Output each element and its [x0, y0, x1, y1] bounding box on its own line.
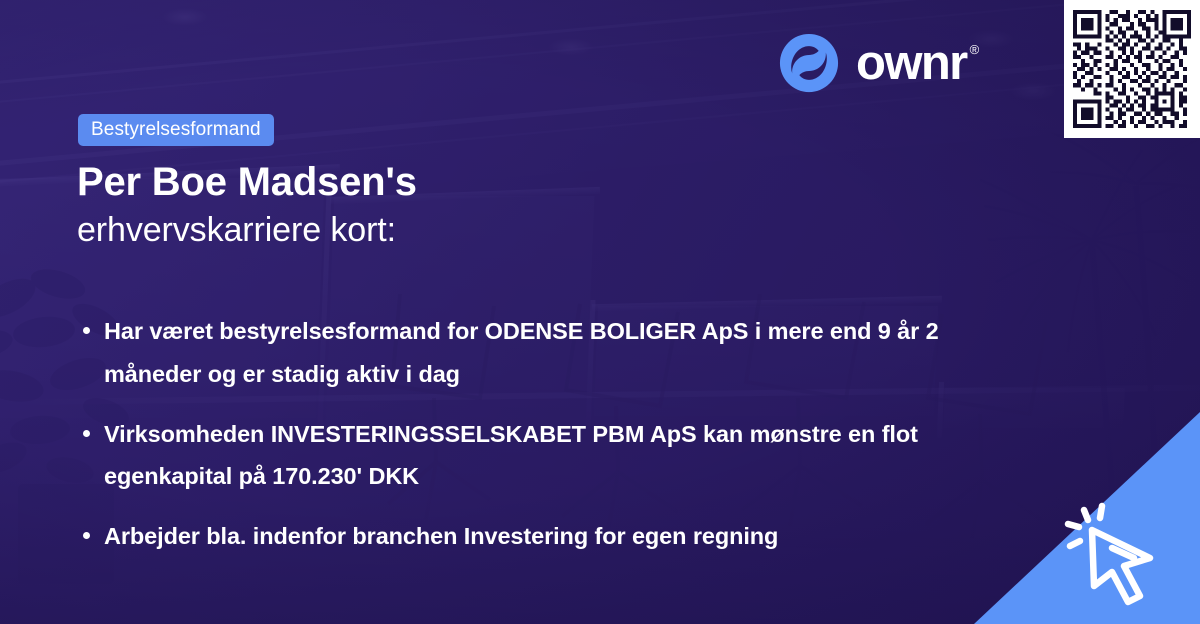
- qr-code-panel[interactable]: [1064, 0, 1200, 138]
- headline-line-2: erhvervskarriere kort:: [77, 209, 417, 252]
- role-badge-label: Bestyrelsesformand: [91, 119, 261, 141]
- qr-code-icon: [1073, 10, 1191, 128]
- career-card: Bestyrelsesformand Per Boe Madsen's erhv…: [0, 0, 1200, 624]
- ownr-wordmark: ownr ®: [856, 39, 979, 88]
- bullet-dot-icon: [83, 430, 90, 437]
- role-badge: Bestyrelsesformand: [78, 114, 274, 146]
- list-item-text: Arbejder bla. indenfor branchen Invester…: [104, 523, 778, 549]
- ownr-wordmark-text: ownr: [856, 39, 967, 88]
- bullet-dot-icon: [83, 327, 90, 334]
- career-highlights-list: Har været bestyrelsesformand for ODENSE …: [80, 310, 980, 558]
- ownr-logo[interactable]: ownr ®: [778, 32, 979, 94]
- page-title: Per Boe Madsen's erhvervskarriere kort:: [77, 157, 417, 252]
- ownr-circle-swirl-icon: [778, 32, 840, 94]
- click-cursor-icon: [1054, 486, 1186, 606]
- registered-trademark-icon: ®: [970, 43, 980, 56]
- bullet-dot-icon: [83, 532, 90, 539]
- headline-line-1: Per Boe Madsen's: [77, 157, 417, 207]
- list-item: Har været bestyrelsesformand for ODENSE …: [80, 310, 980, 396]
- list-item-text: Har været bestyrelsesformand for ODENSE …: [104, 318, 939, 387]
- list-item: Arbejder bla. indenfor branchen Invester…: [80, 515, 980, 558]
- list-item: Virksomheden INVESTERINGSSELSKABET PBM A…: [80, 413, 980, 499]
- list-item-text: Virksomheden INVESTERINGSSELSKABET PBM A…: [104, 421, 918, 490]
